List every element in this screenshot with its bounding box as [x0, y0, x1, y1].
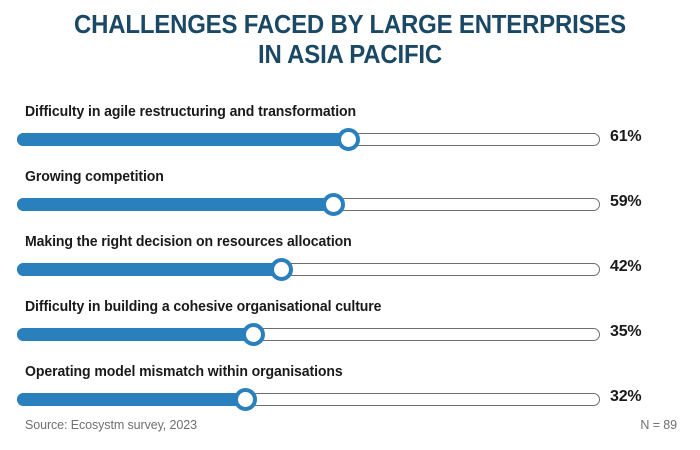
slider-fill [17, 328, 253, 341]
challenge-slider-list: Difficulty in agile restructuring and tr… [0, 96, 700, 421]
challenge-row: Operating model mismatch within organisa… [0, 356, 700, 421]
slider-fill [17, 133, 348, 146]
page-title: CHALLENGES FACED BY LARGE ENTERPRISES IN… [0, 0, 700, 70]
challenge-label: Difficulty in building a cohesive organi… [25, 299, 381, 315]
slider-knob[interactable] [234, 388, 257, 411]
page-title-line-1: CHALLENGES FACED BY LARGE ENTERPRISES [38, 10, 662, 40]
challenge-label: Growing competition [25, 169, 164, 185]
challenge-label: Making the right decision on resources a… [25, 234, 352, 250]
slider-knob[interactable] [270, 258, 293, 281]
challenge-row: Difficulty in building a cohesive organi… [0, 291, 700, 356]
slider-knob[interactable] [242, 323, 265, 346]
challenge-slider[interactable] [17, 327, 600, 342]
challenge-value: 61% [610, 128, 641, 146]
challenge-value: 59% [610, 193, 641, 211]
challenge-row: Difficulty in agile restructuring and tr… [0, 96, 700, 161]
page-title-line-2: IN ASIA PACIFIC [38, 40, 662, 70]
challenge-label: Difficulty in agile restructuring and tr… [25, 104, 356, 120]
challenge-value: 32% [610, 388, 641, 406]
challenge-value: 35% [610, 323, 641, 341]
source-note: Source: Ecosystm survey, 2023 [25, 418, 197, 432]
challenge-slider[interactable] [17, 392, 600, 407]
challenge-slider[interactable] [17, 262, 600, 277]
slider-fill [17, 393, 245, 406]
challenge-row: Making the right decision on resources a… [0, 226, 700, 291]
slider-knob[interactable] [322, 193, 345, 216]
challenge-value: 42% [610, 258, 641, 276]
slider-fill [17, 198, 333, 211]
challenge-slider[interactable] [17, 197, 600, 212]
sample-size-note: N = 89 [640, 418, 677, 432]
challenge-row: Growing competition 59% [0, 161, 700, 226]
slider-fill [17, 263, 281, 276]
challenge-slider[interactable] [17, 132, 600, 147]
infographic-page: CHALLENGES FACED BY LARGE ENTERPRISES IN… [0, 0, 700, 450]
slider-knob[interactable] [337, 128, 360, 151]
footer: Source: Ecosystm survey, 2023 N = 89 [0, 418, 700, 434]
challenge-label: Operating model mismatch within organisa… [25, 364, 343, 380]
